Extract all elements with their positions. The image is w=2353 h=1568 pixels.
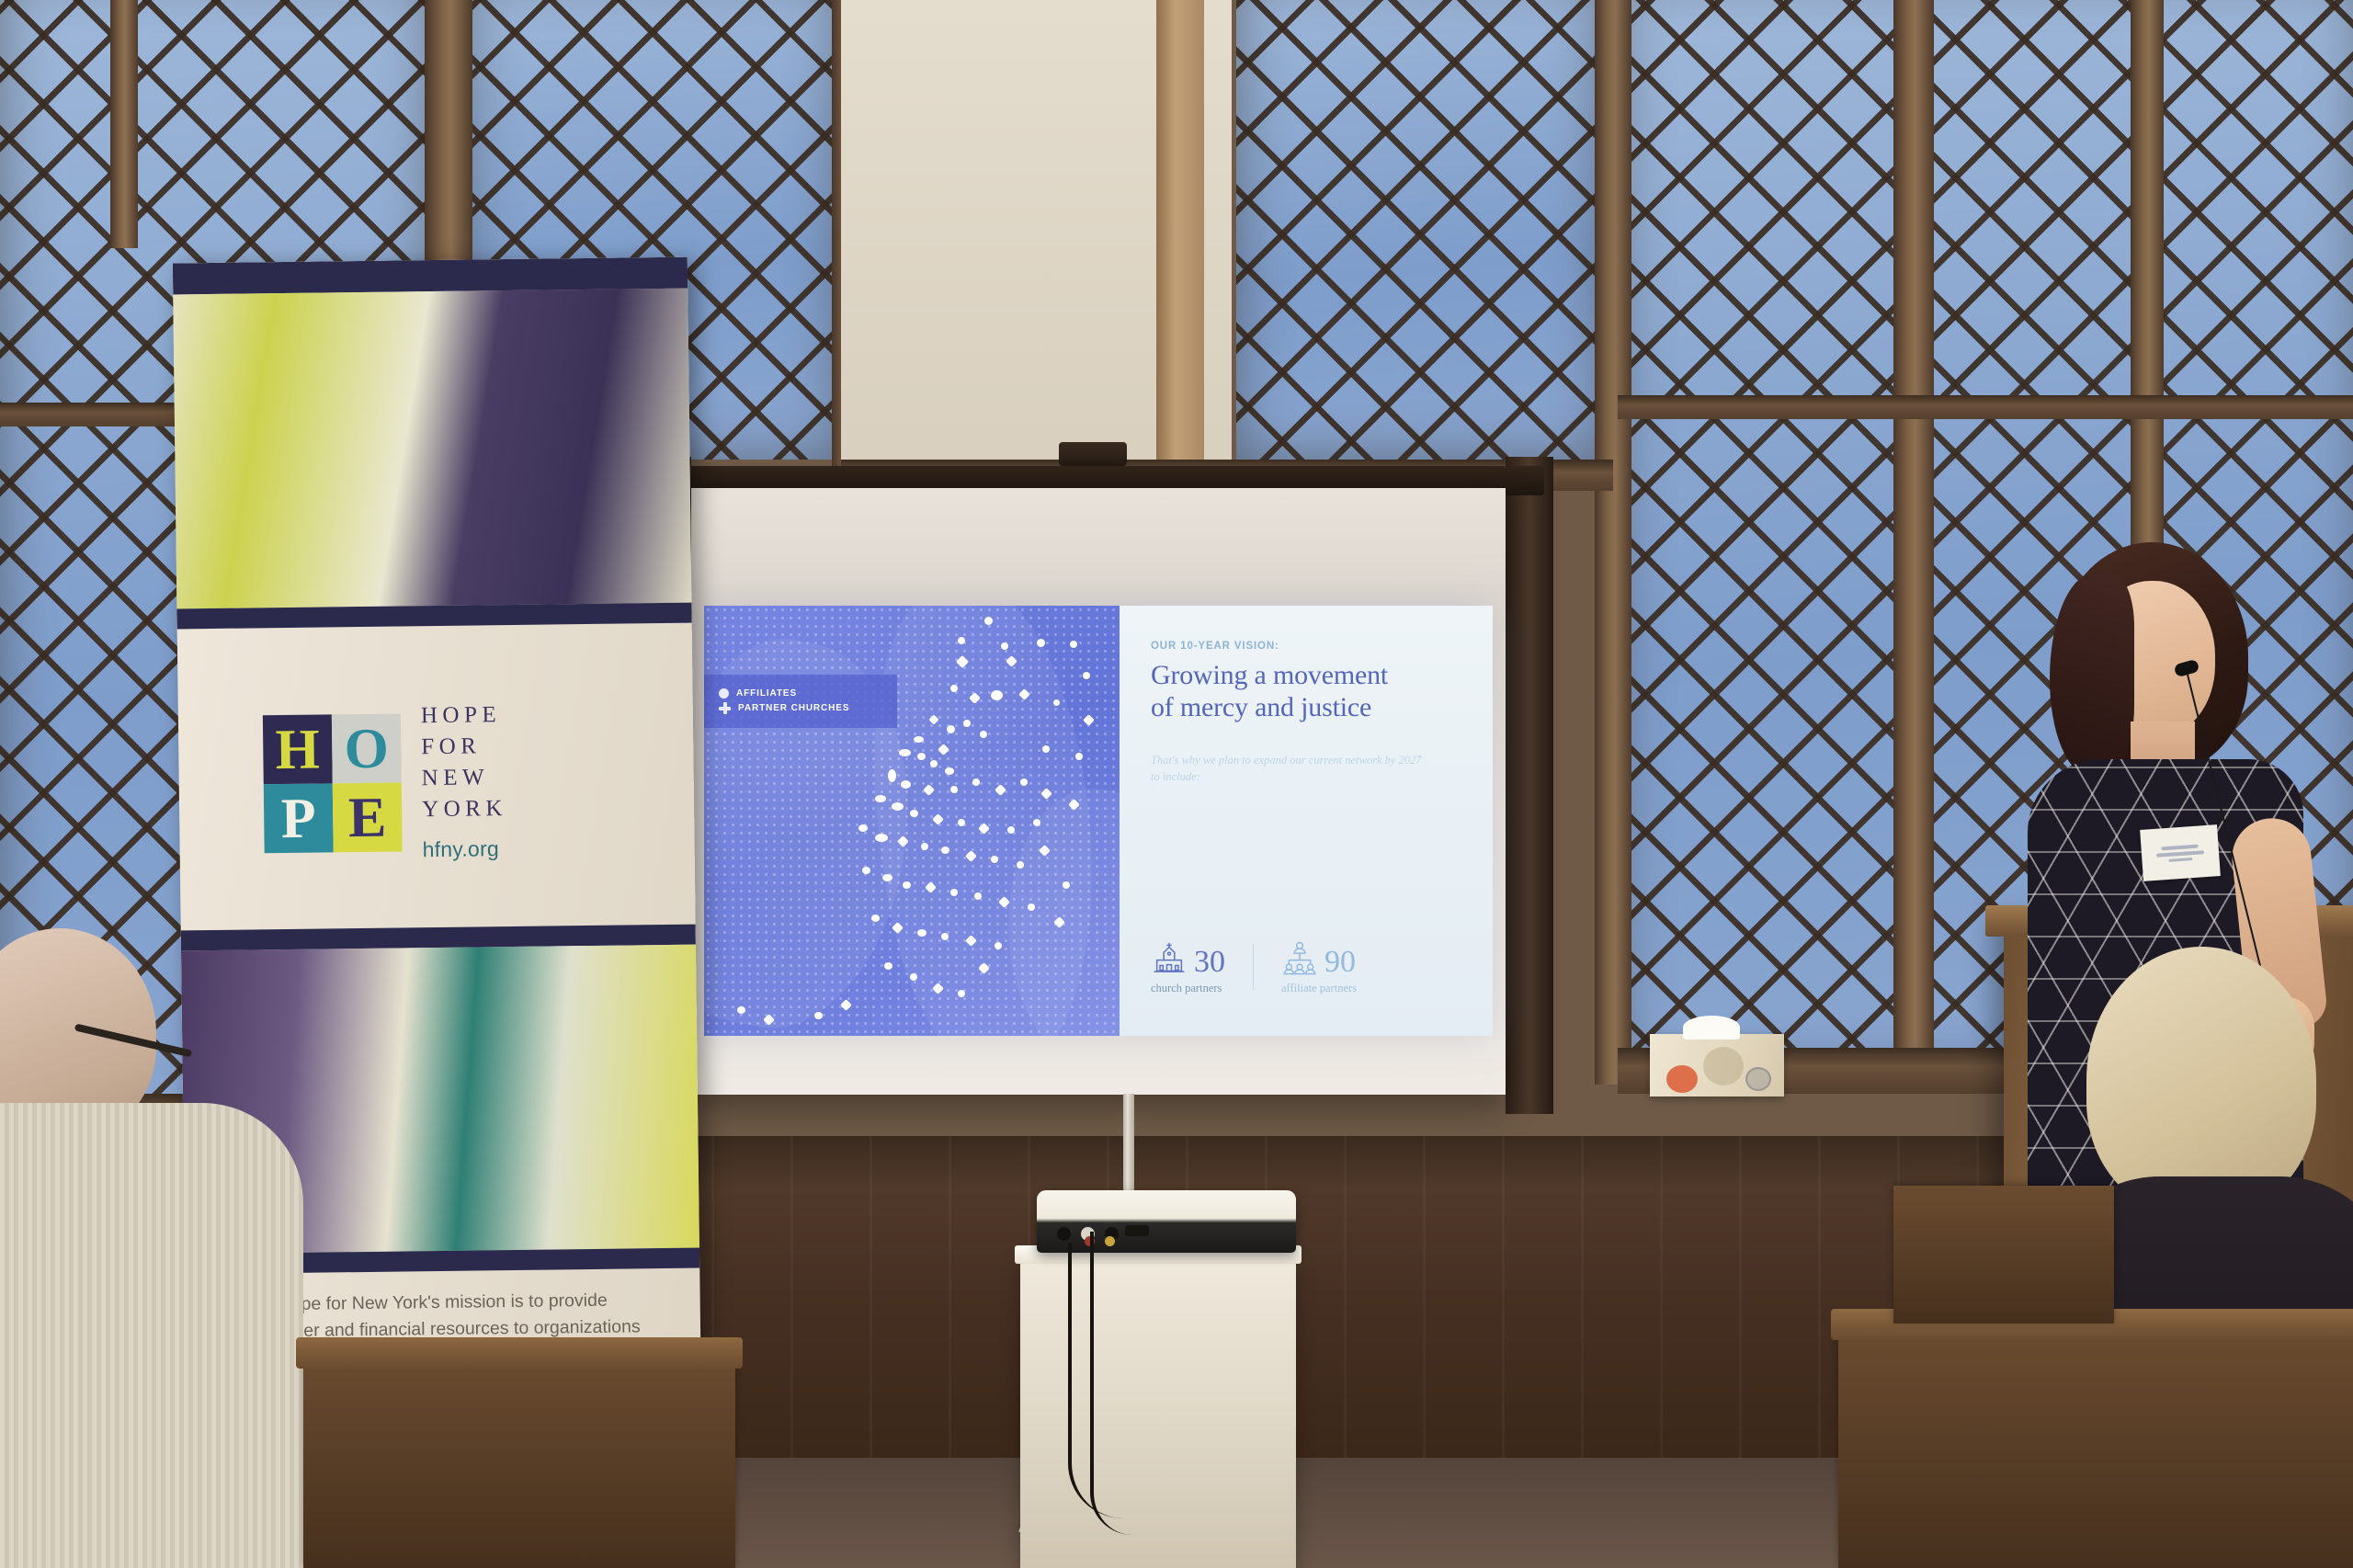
map-marker-affiliate [958, 990, 965, 997]
map-legend: AFFILIATES PARTNER CHURCHES [704, 675, 897, 728]
map-marker-affiliate [917, 929, 926, 937]
map-marker-affiliate [917, 753, 926, 760]
map-marker-affiliate [921, 843, 928, 850]
map-marker-affiliate [945, 767, 954, 775]
slide-text-panel: OUR 10-YEAR VISION: Growing a movement o… [1120, 606, 1493, 1036]
map-marker-affiliate [930, 760, 938, 767]
map-marker-affiliate [950, 786, 958, 793]
pew [1893, 1186, 2114, 1324]
tissue-pattern-dot [1703, 1047, 1744, 1085]
tissue-pattern-dot [1666, 1065, 1698, 1093]
map-marker-affiliate [875, 795, 886, 802]
window-mullion [1595, 0, 1631, 1085]
presentation-scene: AFFILIATES PARTNER CHURCHES OUR 10-YEAR … [0, 0, 2353, 1568]
map-marker-affiliate [958, 819, 965, 826]
map-marker-affiliate [901, 780, 911, 789]
speaker-name-badge [2140, 824, 2221, 881]
hope-logo-wordmark: HOPE FOR NEW YORK hfny.org [421, 702, 508, 862]
map-marker-affiliate [941, 846, 949, 854]
map-marker-affiliate [875, 834, 888, 842]
projector-pedestal [1020, 1257, 1296, 1568]
stat-value: 90 [1324, 948, 1356, 977]
headline-line-2: of mercy and justice [1151, 692, 1465, 724]
hope-logo-cell-e: E [333, 782, 403, 852]
map-marker-affiliate [1020, 778, 1028, 786]
badge-text-line [2156, 850, 2204, 858]
map-marker-affiliate [1070, 641, 1077, 648]
map-marker-affiliate [972, 778, 980, 786]
map-marker-affiliate [1053, 699, 1060, 706]
legend-label: AFFILIATES [736, 688, 797, 699]
banner-url: hfny.org [422, 836, 507, 862]
screen-pull-knob[interactable] [1059, 442, 1127, 466]
wordmark-line: YORK [422, 796, 507, 823]
window-mullion [1893, 0, 1934, 1057]
stat-affiliate-partners: 90 affiliate partners [1281, 940, 1357, 995]
screen-canvas: AFFILIATES PARTNER CHURCHES OUR 10-YEAR … [691, 488, 1506, 1095]
map-marker-affiliate [862, 867, 870, 874]
legend-item-partner-churches: PARTNER CHURCHES [719, 702, 897, 714]
stat-church-partners: 30 church partners [1151, 940, 1225, 995]
map-marker-affiliate [910, 810, 918, 817]
window-transom [1618, 395, 2353, 419]
map-marker-affiliate [1001, 642, 1008, 650]
pew [303, 1351, 735, 1568]
wordmark-line: NEW [422, 765, 507, 791]
map-marker-affiliate [1007, 826, 1015, 834]
pew-back-rail [296, 1337, 743, 1369]
audience-member-left [0, 928, 322, 1568]
map-marker-affiliate [1028, 903, 1035, 911]
map-marker-affiliate [737, 1006, 745, 1014]
map-marker-affiliate [892, 802, 904, 811]
map-marker-affiliate [884, 962, 892, 970]
stat-divider [1253, 944, 1254, 990]
map-marker-affiliate [991, 856, 998, 863]
legend-item-affiliates: AFFILIATES [719, 688, 897, 699]
headline-line-1: Growing a movement [1151, 660, 1465, 692]
wooden-cross [1156, 0, 1204, 478]
slide-map-panel: AFFILIATES PARTNER CHURCHES [704, 606, 1120, 1036]
plus-icon [719, 702, 731, 714]
map-marker-affiliate [1017, 861, 1024, 869]
stat-label: affiliate partners [1281, 982, 1357, 995]
hope-logo-block: H O P E HOPE FOR NEW YORK hfny.org [177, 642, 696, 924]
map-marker-affiliate [814, 1012, 823, 1019]
window-bay-center-right [1236, 0, 1604, 460]
map-marker-affiliate [1083, 672, 1090, 679]
tissue-sheet [1683, 1016, 1740, 1040]
map-marker-affiliate [963, 720, 971, 727]
map-marker-affiliate [1075, 753, 1083, 760]
hope-logo-cell-h: H [263, 714, 333, 784]
tissue-pattern-dot [1745, 1067, 1771, 1091]
dot-icon [719, 688, 729, 699]
map-marker-affiliate [980, 731, 987, 738]
window-mullion [110, 0, 138, 248]
slide-eyebrow: OUR 10-YEAR VISION: [1151, 641, 1465, 652]
map-marker-affiliate [941, 933, 949, 940]
speaker-hair-side [2050, 574, 2134, 776]
slide-headline: Growing a movement of mercy and justice [1151, 660, 1465, 724]
map-marker-affiliate [903, 881, 911, 889]
map-marker-affiliate [947, 725, 955, 733]
map-marker-affiliate [871, 915, 880, 922]
audience-left-body [0, 1103, 303, 1568]
pew [1838, 1324, 2353, 1568]
wordmark-line: FOR [421, 733, 506, 760]
projected-slide: AFFILIATES PARTNER CHURCHES OUR 10-YEAR … [704, 606, 1493, 1036]
screen-post-right [1506, 457, 1553, 1114]
map-marker-affiliate [950, 889, 958, 896]
badge-text-line [2161, 844, 2198, 850]
wordmark-line: HOPE [421, 702, 506, 729]
projector-cable [1090, 1232, 1132, 1535]
stat-value: 30 [1194, 948, 1225, 977]
map-marker-affiliate [914, 736, 924, 743]
map-marker-affiliate [950, 685, 958, 692]
people-network-icon [1281, 940, 1318, 977]
map-marker-affiliate [974, 892, 982, 900]
map-marker-affiliate [991, 690, 1003, 700]
audience-right-head [2086, 947, 2316, 1213]
map-marker-affiliate [995, 942, 1002, 949]
hope-logo-cell-p: P [264, 783, 334, 853]
stat-label: church partners [1151, 982, 1225, 995]
hope-logo-grid: H O P E [263, 713, 403, 853]
tissue-box [1650, 1034, 1784, 1096]
map-marker-affiliate [1042, 745, 1050, 753]
map-marker-affiliate [888, 769, 896, 782]
hope-logo-cell-o: O [332, 713, 402, 783]
badge-text-line [2168, 858, 2192, 862]
map-marker-affiliate [958, 637, 965, 644]
map-marker-affiliate [858, 824, 868, 832]
map-marker-affiliate [882, 874, 892, 881]
legend-label: PARTNER CHURCHES [738, 703, 849, 713]
projection-screen: AFFILIATES PARTNER CHURCHES OUR 10-YEAR … [643, 457, 1553, 1114]
projector-port [1057, 1227, 1071, 1241]
map-marker-affiliate [984, 617, 993, 625]
banner-photo-top [173, 289, 691, 609]
church-icon [1151, 940, 1188, 977]
map-marker-affiliate [899, 749, 911, 756]
map-marker-affiliate [1037, 639, 1045, 647]
slide-subcopy: That's why we plan to expand our current… [1151, 752, 1427, 787]
map-marker-affiliate [910, 973, 917, 981]
slide-stats: 30 church partners [1151, 940, 1357, 995]
map-marker-affiliate [1033, 819, 1040, 826]
map-marker-affiliate [1063, 881, 1070, 889]
